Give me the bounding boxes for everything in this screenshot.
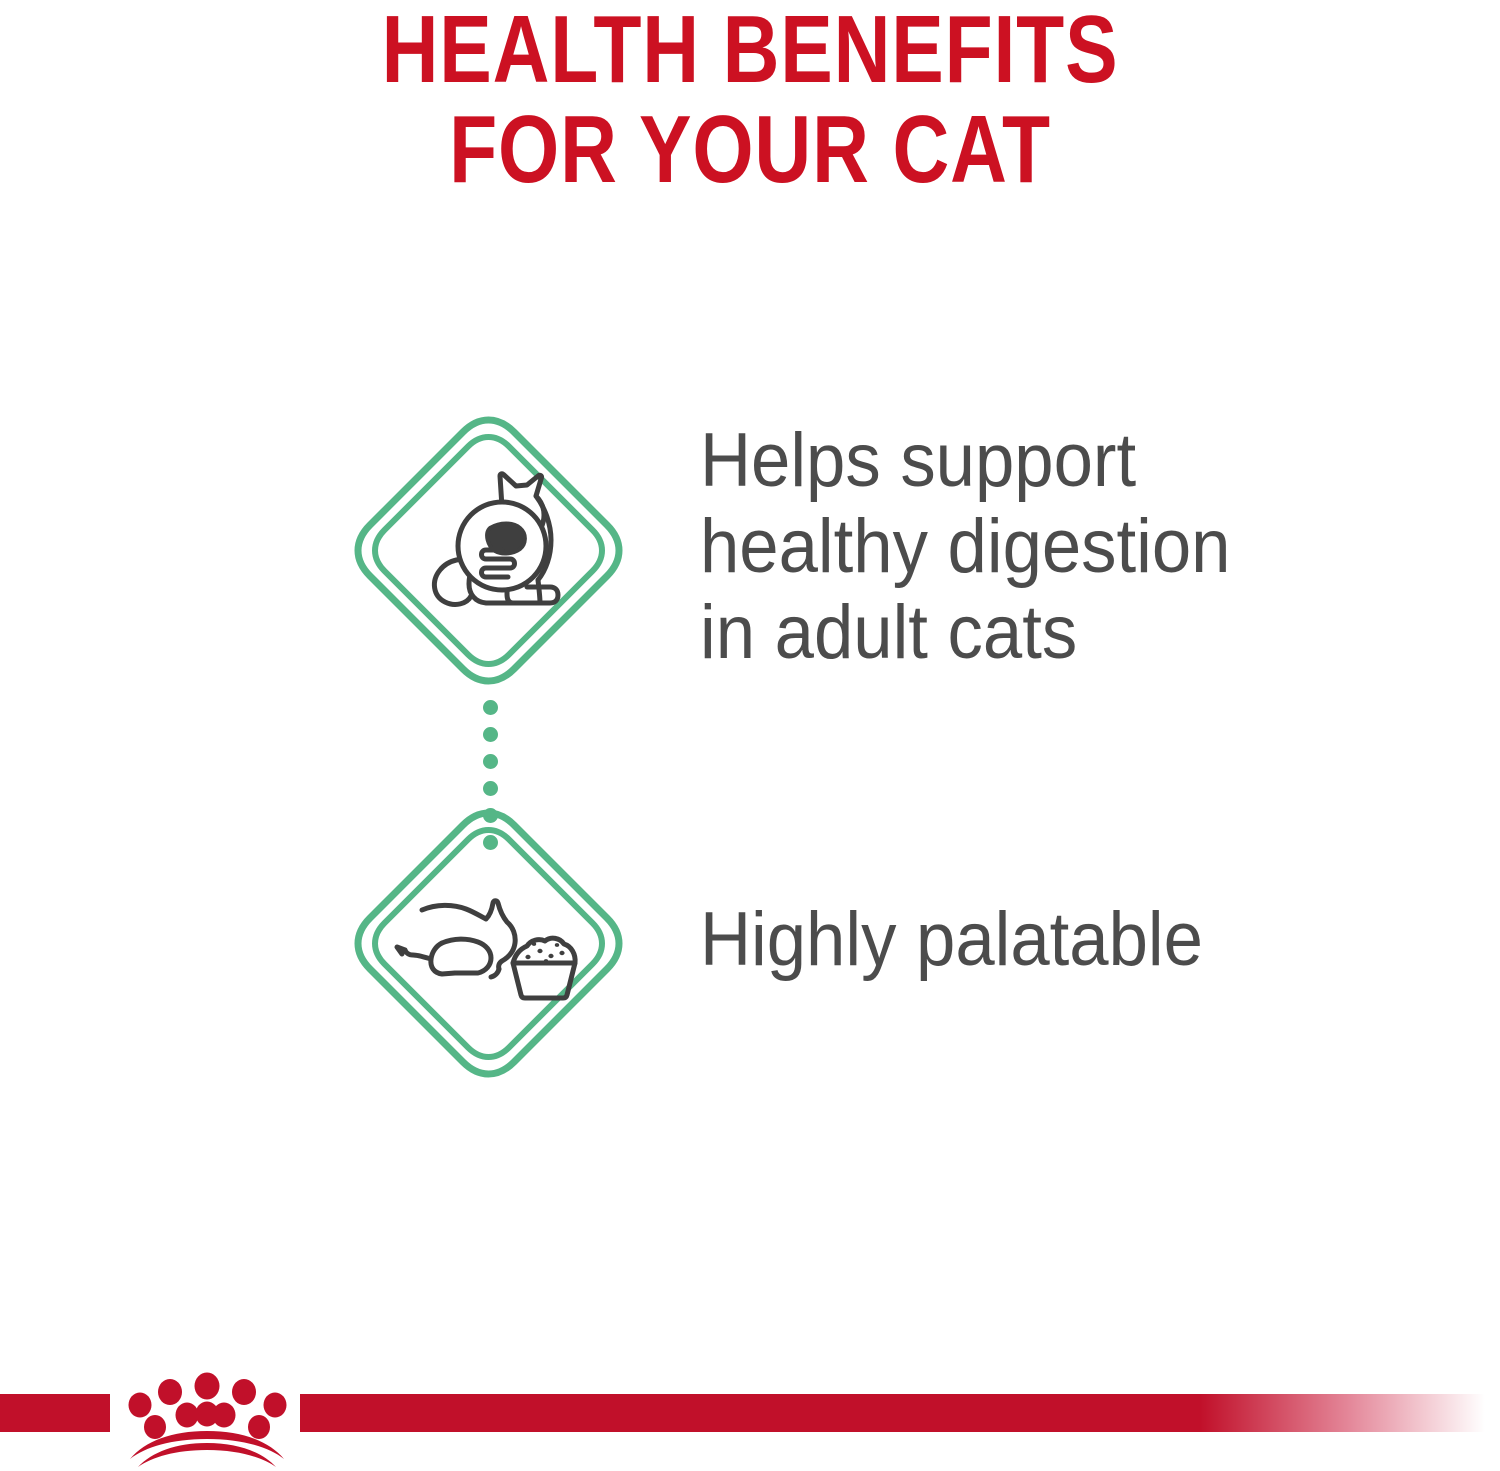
benefit-row: Helps support healthy digestion in adult…: [0, 412, 1500, 685]
benefit-badge: [350, 805, 627, 1082]
benefit-text: Helps support healthy digestion in adult…: [700, 418, 1407, 676]
page-title-line-2: FOR YOUR CAT: [135, 100, 1365, 200]
benefit-text-line: Highly palatable: [700, 897, 1407, 983]
page-title-line-1: HEALTH BENEFITS: [135, 0, 1365, 100]
crown-icon: [112, 1367, 304, 1467]
benefit-text-line: Helps support: [700, 418, 1407, 504]
benefit-row: Highly palatable: [0, 805, 1500, 1078]
connector-dot: [483, 754, 498, 769]
page-title: HEALTH BENEFITS FOR YOUR CAT: [0, 0, 1500, 200]
connector-dot: [483, 700, 498, 715]
benefit-badge: [350, 412, 627, 689]
benefit-text: Highly palatable: [700, 897, 1407, 983]
connector-dot: [483, 781, 498, 796]
benefit-text-line: in adult cats: [700, 590, 1407, 676]
footer: [0, 1361, 1500, 1471]
benefit-text-line: healthy digestion: [700, 504, 1407, 590]
cat-digestion-icon: [350, 412, 627, 689]
dotted-connector: [477, 700, 503, 790]
royal-canin-crown-logo: [112, 1367, 304, 1467]
connector-dot: [483, 727, 498, 742]
cat-eating-bowl-icon: [350, 805, 627, 1082]
